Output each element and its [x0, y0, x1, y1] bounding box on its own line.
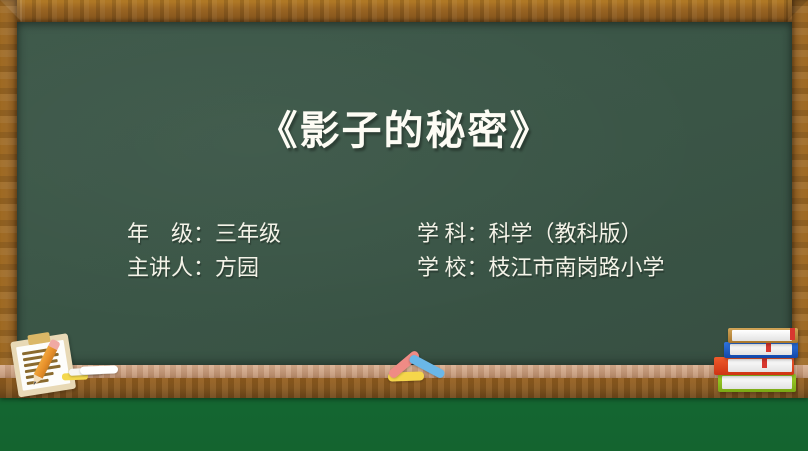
lesson-info-block: 年 级： 三年级 学 科： 科学（教科版） 主讲人： 方园 学 校： 枝江市南岗…	[127, 217, 727, 285]
frame-miter-right	[786, 0, 808, 22]
book-tan-pages	[732, 330, 792, 341]
info-grade-label: 年 级：	[127, 217, 215, 251]
book-red-bookmark	[762, 357, 767, 368]
lesson-title-slide: 《影子的秘密》 年 级： 三年级 学 科： 科学（教科版） 主讲人： 方园 学	[0, 0, 808, 451]
book-stack-icon	[714, 326, 802, 394]
book-tan-bookmark	[790, 328, 795, 340]
info-school-value: 枝江市南岗路小学	[489, 251, 665, 285]
info-subject: 学 科： 科学（教科版）	[417, 217, 717, 251]
info-subject-label: 学 科：	[417, 217, 489, 251]
info-school: 学 校： 枝江市南岗路小学	[417, 251, 717, 285]
info-school-label: 学 校：	[417, 251, 489, 285]
frame-top-rail	[0, 0, 808, 22]
info-presenter-label: 主讲人：	[127, 251, 215, 285]
info-grade-value: 三年级	[215, 217, 281, 251]
info-row: 年 级： 三年级 学 科： 科学（教科版）	[127, 217, 727, 251]
book-blue-pages	[730, 344, 792, 355]
book-red-pages	[728, 359, 792, 372]
info-row: 主讲人： 方园 学 校： 枝江市南岗路小学	[127, 251, 727, 285]
book-blue-bookmark	[766, 342, 771, 352]
info-grade: 年 级： 三年级	[127, 217, 417, 251]
frame-miter-left	[0, 0, 22, 22]
chalkboard-surface: 《影子的秘密》 年 级： 三年级 学 科： 科学（教科版） 主讲人： 方园 学	[17, 22, 792, 365]
chalk-white-icon	[80, 365, 118, 374]
info-presenter: 主讲人： 方园	[127, 251, 417, 285]
page-title: 《影子的秘密》	[17, 98, 792, 156]
info-presenter-value: 方园	[215, 251, 259, 285]
info-subject-value: 科学（教科版）	[489, 217, 643, 251]
book-green-pages	[722, 376, 792, 389]
